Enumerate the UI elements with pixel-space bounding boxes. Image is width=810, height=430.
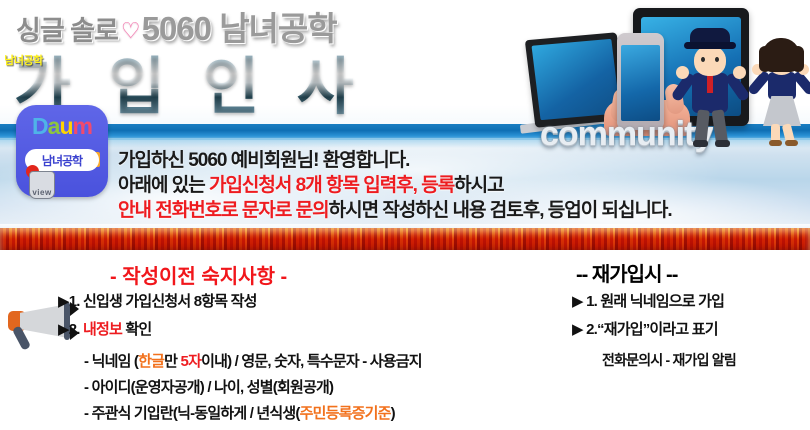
daum-letter-m: m <box>73 113 92 139</box>
left-instructions-column: - 작성이전 숙지사항 - ▶1. 신입생 가입신청서 8항목 작성 ▶2. 내… <box>0 254 540 430</box>
welcome-text-block: 가입하신 5060 예비회원님! 환영합니다. 아래에 있는 가입신청서 8개 … <box>118 148 798 223</box>
daum-letter-u: u <box>59 113 72 139</box>
left-detail-1-b: 만 <box>164 353 180 370</box>
welcome-line-1: 가입하신 5060 예비회원님! 환영합니다. <box>118 148 798 173</box>
view-cursor-icon: view <box>29 171 55 199</box>
left-detail-3-orange: 주민등록증기준 <box>300 405 391 422</box>
welcome-line-2-highlight: 가입신청서 8개 항목 입력후, 등록 <box>209 175 454 196</box>
left-detail-2: - 아이디(운영자공개) / 나이, 성별(회원공개) <box>84 376 333 397</box>
left-detail-1: - 닉네임 (한글만 5자이내) / 영문, 숫자, 특수문자 - 사용금지 <box>84 350 422 371</box>
left-detail-3: - 주관식 기입란(닉-동일하게 / 년식생(주민등록증기준) <box>84 402 395 423</box>
left-detail-1-orange: 한글 <box>138 353 164 370</box>
welcome-line-3: 안내 전화번호로 문자로 문의하시면 작성하신 내용 검토후, 등업이 되십니다… <box>118 198 798 223</box>
left-bullet-2-highlight: 내정보 <box>83 321 122 338</box>
view-label: view <box>32 188 51 198</box>
student-girl-illustration <box>752 38 810 146</box>
left-bullet-2-suffix: 확인 <box>122 321 151 338</box>
cafe-name-label: 남녀공학 <box>42 152 82 169</box>
right-instructions-column: -- 재가입시 -- ▶ 1. 원래 닉네임으로 가입 ▶ 2.“재가입”이라고… <box>540 254 810 430</box>
left-detail-1-red: 5자 <box>181 353 202 370</box>
left-bullet-2-prefix: ▶2. <box>58 321 83 338</box>
banner-root: 남녀공학 <box>0 0 810 430</box>
daum-wordmark: Daum <box>24 115 100 138</box>
daum-logo[interactable]: Daum 남녀공학 view <box>16 105 108 197</box>
left-column-heading: - 작성이전 숙지사항 - <box>110 260 287 289</box>
right-note: 전화문의시 - 재가입 알림 <box>602 350 736 370</box>
right-column-heading: -- 재가입시 -- <box>576 258 677 287</box>
right-bullet-1: ▶ 1. 원래 닉네임으로 가입 <box>572 290 724 311</box>
left-bullet-2: ▶2. 내정보 확인 <box>58 318 151 339</box>
welcome-line-2-c: 하시고 <box>454 175 503 196</box>
flower-field-band <box>0 228 810 250</box>
welcome-line-3-b: 하시면 작성하신 내용 검토후, 등업이 되십니다. <box>329 200 672 221</box>
phone-screen-label: 남녀공학 <box>0 52 47 68</box>
right-bullet-2: ▶ 2.“재가입”이라고 표기 <box>572 318 718 339</box>
welcome-line-2: 아래에 있는 가입신청서 8개 항목 입력후, 등록하시고 <box>118 173 798 198</box>
left-bullet-1: ▶1. 신입생 가입신청서 8항목 작성 <box>58 290 257 311</box>
left-detail-3-a: - 주관식 기입란(닉-동일하게 / 년식생( <box>84 405 300 422</box>
daum-letter-a: a <box>48 113 60 139</box>
welcome-line-3-highlight: 안내 전화번호로 문자로 문의 <box>118 200 329 221</box>
instructions-section: - 작성이전 숙지사항 - ▶1. 신입생 가입신청서 8항목 작성 ▶2. 내… <box>0 254 810 430</box>
daum-letter-d: D <box>32 113 48 139</box>
left-detail-1-a: - 닉네임 ( <box>84 353 138 370</box>
hero-section: 남녀공학 <box>0 0 810 250</box>
student-boy-illustration <box>676 28 748 146</box>
left-detail-3-b: ) <box>391 405 395 422</box>
welcome-line-2-a: 아래에 있는 <box>118 175 209 196</box>
left-detail-1-c: 이내) / 영문, 숫자, 특수문자 - 사용금지 <box>201 353 422 370</box>
